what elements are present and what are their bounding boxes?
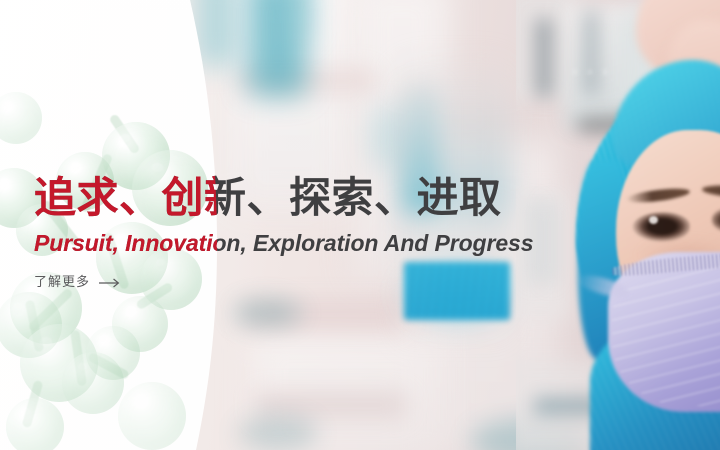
learn-more-link[interactable]: 了解更多 [34, 274, 121, 292]
learn-more-label: 了解更多 [34, 274, 90, 292]
arrow-right-icon [99, 278, 121, 288]
banner-content: 追求、创新、探索、进取 Pursuit, Innovation, Explora… [0, 0, 720, 450]
page-title: 追求、创新、探索、进取 [34, 172, 502, 224]
accent-text-clip-layer: 追求、创新、探索、进取 Pursuit, Innovation, Explora… [0, 0, 720, 450]
hero-banner: 追求、创新、探索、进取 Pursuit, Innovation, Explora… [0, 0, 720, 450]
page-subtitle: Pursuit, Innovation, Exploration And Pro… [34, 228, 533, 259]
